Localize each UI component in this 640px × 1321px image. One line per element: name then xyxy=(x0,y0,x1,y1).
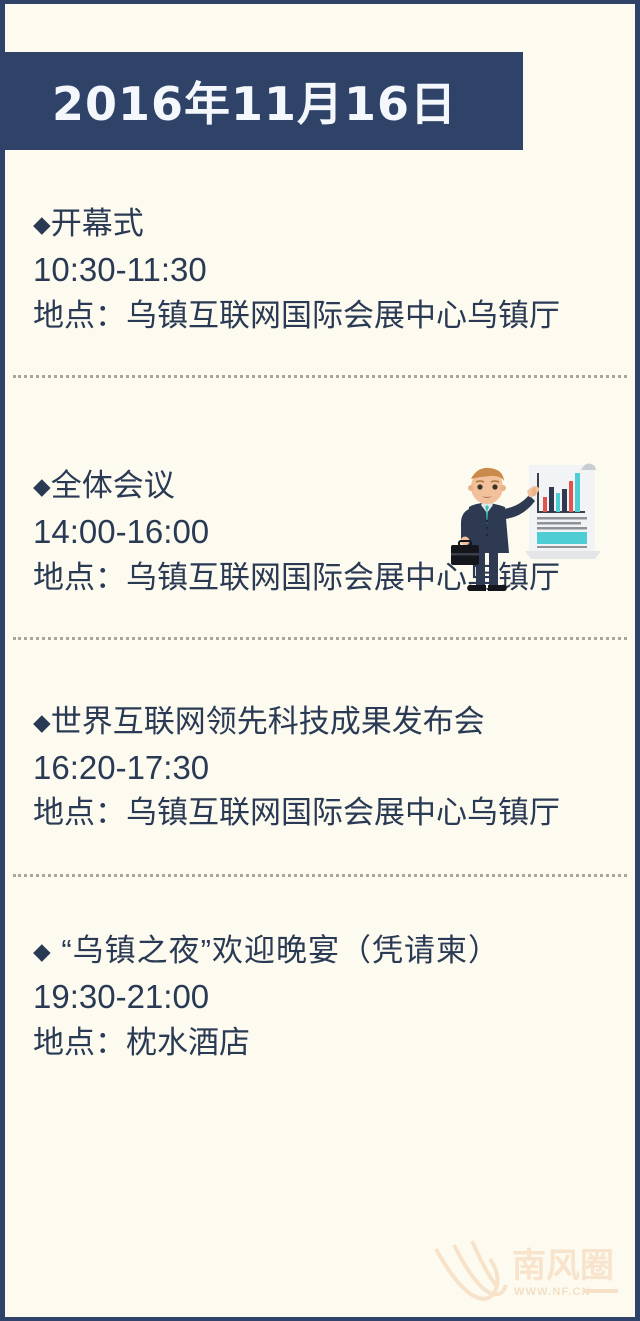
nanfengquan-watermark-logo: 南风圈 WWW.NF.CN xyxy=(432,1233,627,1311)
event-time: 14:00-16:00 xyxy=(33,508,613,556)
diamond-bullet-icon: ◆ xyxy=(33,208,51,241)
diamond-bullet-icon: ◆ xyxy=(33,935,52,968)
event-location: 地点：枕水酒店 xyxy=(33,1021,613,1066)
event-title-row: ◆全体会议 xyxy=(33,464,613,508)
diamond-bullet-icon: ◆ xyxy=(33,470,51,503)
header-banner: 2016年11月16日 xyxy=(0,52,523,150)
swirl-mark-icon xyxy=(436,1241,506,1299)
page-title: 2016年11月16日 xyxy=(52,68,457,134)
event-title-row: ◆开幕式 xyxy=(33,202,613,246)
event-title: 全体会议 xyxy=(51,468,175,503)
diamond-bullet-icon: ◆ xyxy=(33,706,51,739)
watermark-brand: 南风圈 xyxy=(512,1246,614,1286)
event-location: 地点：乌镇互联网国际会展中心乌镇厅 xyxy=(33,556,613,601)
schedule-list: ◆开幕式 10:30-11:30 地点：乌镇互联网国际会展中心乌镇厅 ◆全体会议… xyxy=(5,150,635,1066)
list-item[interactable]: ◆开幕式 10:30-11:30 地点：乌镇互联网国际会展中心乌镇厅 xyxy=(5,150,635,375)
event-time: 16:20-17:30 xyxy=(33,744,613,792)
event-location: 地点：乌镇互联网国际会展中心乌镇厅 xyxy=(33,294,613,339)
event-title: “乌镇之夜”欢迎晚宴（凭请柬） xyxy=(61,933,500,968)
watermark-url: WWW.NF.CN xyxy=(514,1286,591,1298)
list-item[interactable]: ◆全体会议 14:00-16:00 地点：乌镇互联网国际会展中心乌镇厅 xyxy=(5,378,635,637)
event-title-row: ◆世界互联网领先科技成果发布会 xyxy=(33,700,613,744)
event-time: 10:30-11:30 xyxy=(33,246,613,294)
event-location: 地点：乌镇互联网国际会展中心乌镇厅 xyxy=(33,791,613,836)
event-time: 19:30-21:00 xyxy=(33,973,613,1021)
watermark-rule xyxy=(584,1289,618,1293)
event-title-row: ◆ “乌镇之夜”欢迎晚宴（凭请柬） xyxy=(33,929,613,973)
poster-canvas: 2016年11月16日 ◆开幕式 10:30-11:30 地点：乌镇互联网国际会… xyxy=(0,0,640,1321)
list-item[interactable]: ◆ “乌镇之夜”欢迎晚宴（凭请柬） 19:30-21:00 地点：枕水酒店 xyxy=(5,877,635,1066)
event-title: 开幕式 xyxy=(51,206,144,241)
list-item[interactable]: ◆世界互联网领先科技成果发布会 16:20-17:30 地点：乌镇互联网国际会展… xyxy=(5,640,635,875)
event-title: 世界互联网领先科技成果发布会 xyxy=(51,704,485,739)
